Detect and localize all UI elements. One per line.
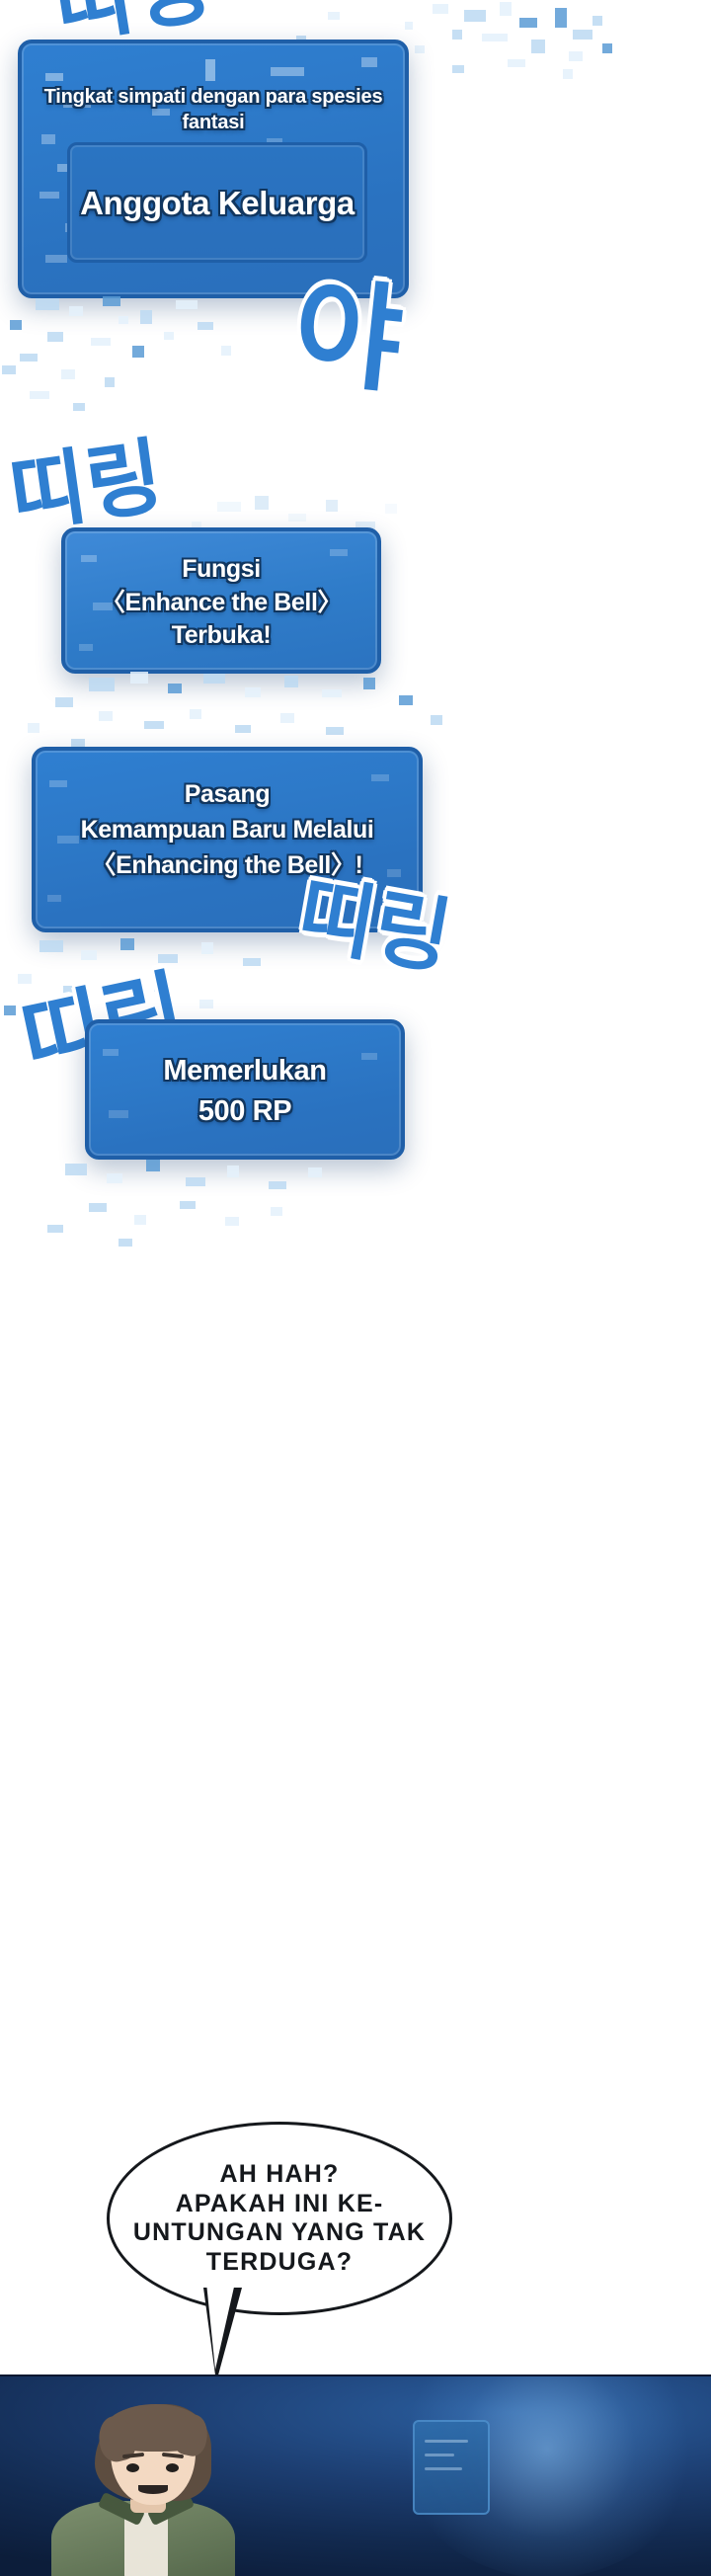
system-panel-cost: Memerlukan 500 RP (85, 1019, 405, 1160)
panel-affinity-header: Tingkat simpati dengan para spesies fant… (22, 85, 405, 135)
sfx-mid-left: 띠링 (5, 440, 167, 534)
system-panel-install-skill: Pasang Kemampuan Baru Melalui 〈Enhancing… (32, 747, 423, 932)
system-panel-affinity: Tingkat simpati dengan para spesies fant… (18, 40, 409, 298)
panel-affinity-inner-frame: Anggota Keluarga (67, 142, 367, 263)
system-panel-function-open: Fungsi 〈Enhance the Bell〉 Terbuka! (61, 527, 381, 674)
speech-bubble-text: AH HAH? APAKAH INI KE- UNTUNGAN YANG TAK… (133, 2160, 426, 2277)
webtoon-page: 띠링 Tingkat simpati dengan para spesies f… (0, 0, 711, 2576)
character-eye-left (126, 2463, 139, 2472)
panel-affinity-value: Anggota Keluarga (70, 183, 364, 224)
pixel-sparkle-field-below-panel-1 (0, 292, 415, 431)
art-panel-night-room (0, 2375, 711, 2576)
panel-cost-text: Memerlukan 500 RP (89, 1051, 401, 1132)
panel-install-skill-text: Pasang Kemampuan Baru Melalui 〈Enhancing… (36, 776, 419, 883)
speech-bubble: AH HAH? APAKAH INI KE- UNTUNGAN YANG TAK… (107, 2122, 452, 2315)
pixel-sparkle-field-below-panel-4 (30, 1156, 484, 1264)
room-window (413, 2420, 490, 2515)
character-eye-right (166, 2463, 179, 2472)
character-mouth (138, 2485, 168, 2494)
panel-function-open-text: Fungsi 〈Enhance the Bell〉 Terbuka! (65, 553, 377, 653)
